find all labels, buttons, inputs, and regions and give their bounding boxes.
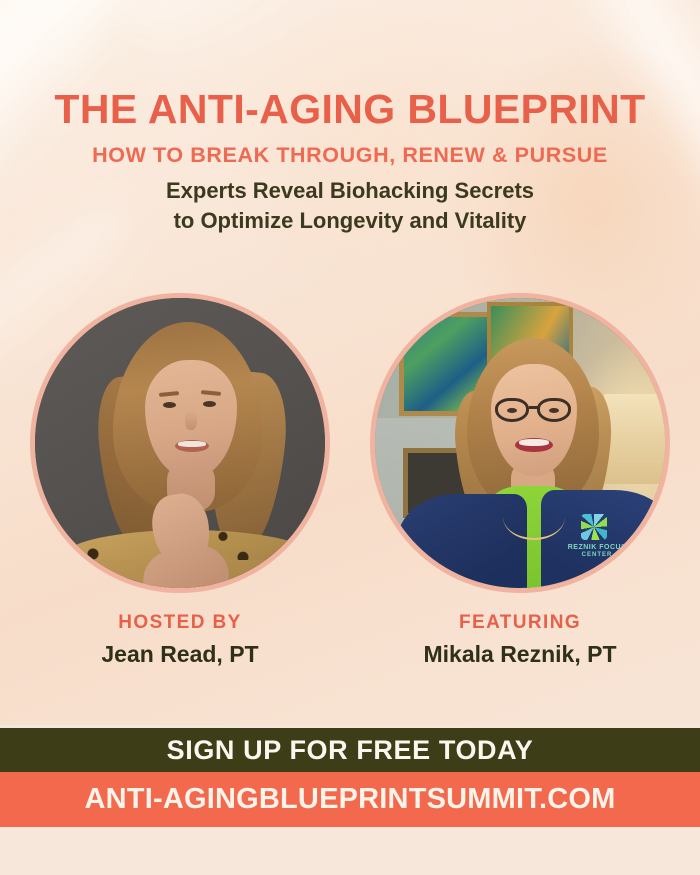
featured-role-label: FEATURING [350,612,690,634]
featured-guest-photo: REZNIK FOCUS CENTER [375,298,665,588]
promotional-poster: THE ANTI-AGING BLUEPRINT HOW TO BREAK TH… [0,0,700,875]
host-credit: HOSTED BY Jean Read, PT [10,612,350,668]
host-name: Jean Read, PT [10,641,350,668]
poster-subtitle: HOW TO BREAK THROUGH, RENEW & PURSUE [0,143,700,168]
featured-guest-credit: FEATURING Mikala Reznik, PT [350,612,690,668]
reznik-focus-center-logo-text: REZNIK FOCUS CENTER [551,544,643,558]
deck-line-1: Experts Reveal Biohacking Secrets [166,178,534,203]
poster-deck: Experts Reveal Biohacking Secrets to Opt… [0,176,700,237]
reznik-focus-center-logo-icon [581,514,607,540]
deck-line-2: to Optimize Longevity and Vitality [0,206,700,236]
signup-cta-bar[interactable]: SIGN UP FOR FREE TODAY [0,728,700,772]
website-url-label: ANTI-AGINGBLUEPRINTSUMMIT.COM [85,783,616,816]
host-role-label: HOSTED BY [10,612,350,634]
poster-title: THE ANTI-AGING BLUEPRINT [0,88,700,131]
featured-guest-portrait: REZNIK FOCUS CENTER [370,293,670,593]
website-url-bar[interactable]: ANTI-AGINGBLUEPRINTSUMMIT.COM [0,772,700,827]
host-photo [35,298,325,588]
featured-guest-name: Mikala Reznik, PT [350,641,690,668]
signup-cta-label: SIGN UP FOR FREE TODAY [167,735,534,766]
host-portrait [30,293,330,593]
headline-block: THE ANTI-AGING BLUEPRINT HOW TO BREAK TH… [0,88,700,168]
